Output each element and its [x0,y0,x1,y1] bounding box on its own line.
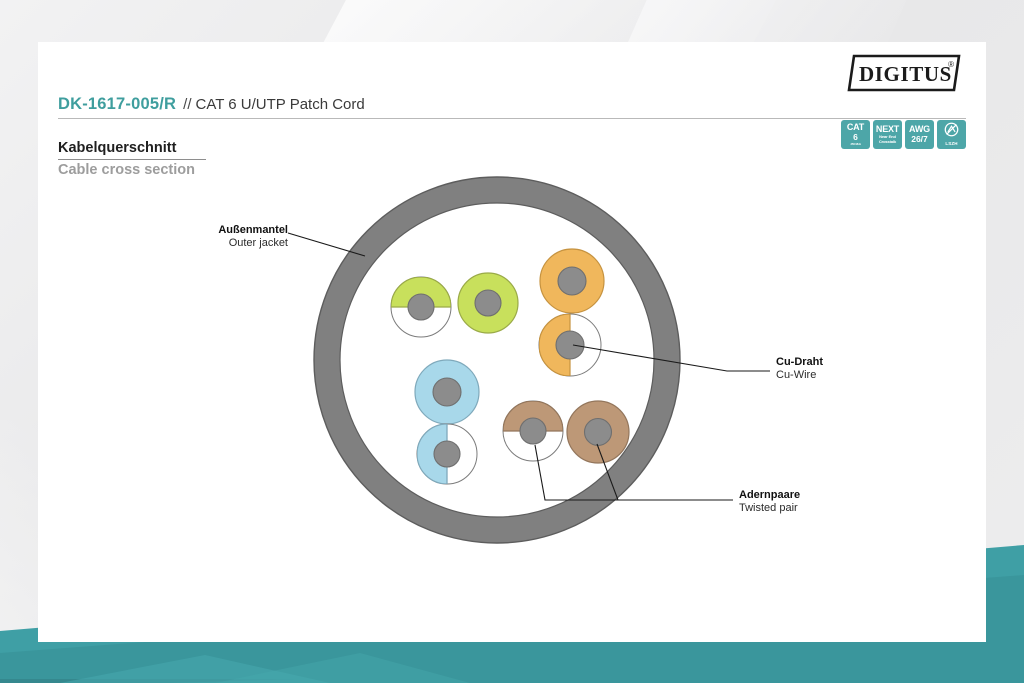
cable-cross-section-diagram [0,0,1024,683]
orange-solid-wire [540,249,604,313]
callout-cu-wire-de: Cu-Draht [776,356,823,368]
outer-jacket-ring [314,177,680,543]
callout-twisted-pair-de: Adernpaare [739,489,800,501]
callout-outer-jacket: Außenmantel Outer jacket [170,224,288,249]
brown-striped-wire [503,401,563,461]
green-striped-wire [391,277,451,337]
leader-outer-jacket [288,233,365,256]
callout-cu-wire: Cu-Draht Cu-Wire [776,356,823,381]
callout-twisted-pair: Adernpaare Twisted pair [739,489,800,514]
callout-twisted-pair-en: Twisted pair [739,502,800,514]
blue-striped-wire [417,424,477,484]
brown-solid-wire [567,401,629,463]
blue-solid-wire [415,360,479,424]
callout-outer-jacket-en: Outer jacket [170,237,288,249]
green-solid-wire [458,273,518,333]
callout-outer-jacket-de: Außenmantel [170,224,288,236]
orange-striped-wire [539,314,601,376]
callout-cu-wire-en: Cu-Wire [776,369,823,381]
